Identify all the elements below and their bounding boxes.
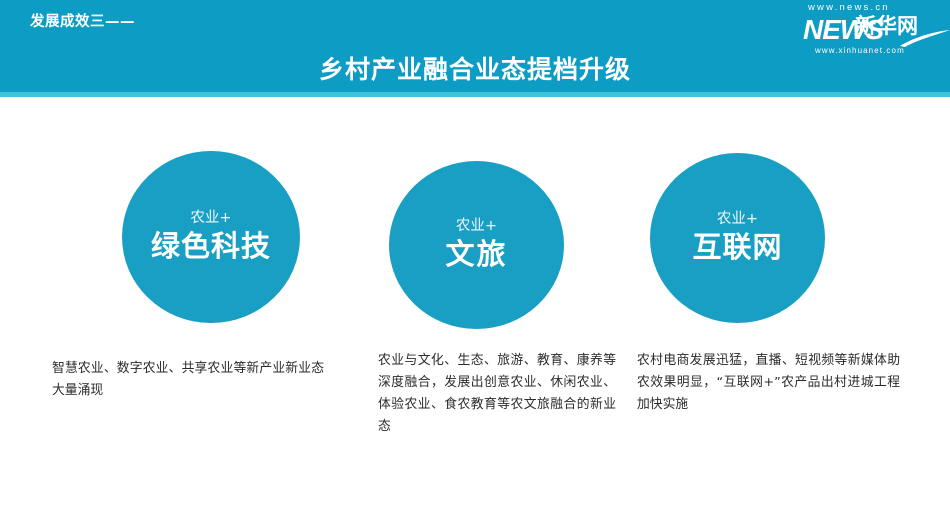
circle-internet-sub: 农业+ bbox=[717, 212, 758, 228]
section-eyebrow-label: 发展成效三—— bbox=[30, 10, 135, 31]
slide: 发展成效三—— 乡村产业融合业态提档升级 www.news.cn NEWS 新华… bbox=[0, 0, 950, 515]
logo-wordmark-group: NEWS 新华网 bbox=[803, 13, 945, 47]
header-band-underline bbox=[0, 92, 950, 97]
swoosh-icon bbox=[899, 29, 950, 47]
circle-green-tech-sub: 农业+ bbox=[190, 211, 231, 227]
xinhua-net-logo: www.news.cn NEWS 新华网 www.xinhuanet.com bbox=[795, 2, 945, 60]
circle-green-tech: 农业+ 绿色科技 bbox=[122, 151, 300, 323]
column-green-tech-text: 智慧农业、数字农业、共享农业等新产业新业态大量涌现 bbox=[52, 358, 324, 402]
circle-culture-tourism: 农业+ 文旅 bbox=[389, 161, 564, 329]
logo-url-bottom: www.xinhuanet.com bbox=[815, 46, 905, 55]
logo-url-top: www.news.cn bbox=[808, 2, 890, 13]
circle-internet-label: 互联网 bbox=[692, 232, 782, 264]
circle-green-tech-label: 绿色科技 bbox=[151, 231, 271, 263]
circle-culture-tourism-sub: 农业+ bbox=[456, 219, 497, 235]
circle-internet: 农业+ 互联网 bbox=[650, 153, 825, 323]
column-internet-text: 农村电商发展迅猛，直播、短视频等新媒体助农效果明显，“互联网+”农产品出村进城工… bbox=[637, 350, 900, 416]
circle-culture-tourism-label: 文旅 bbox=[445, 239, 507, 271]
column-culture-tourism-text: 农业与文化、生态、旅游、教育、康养等深度融合，发展出创意农业、休闲农业、体验农业… bbox=[378, 350, 616, 438]
